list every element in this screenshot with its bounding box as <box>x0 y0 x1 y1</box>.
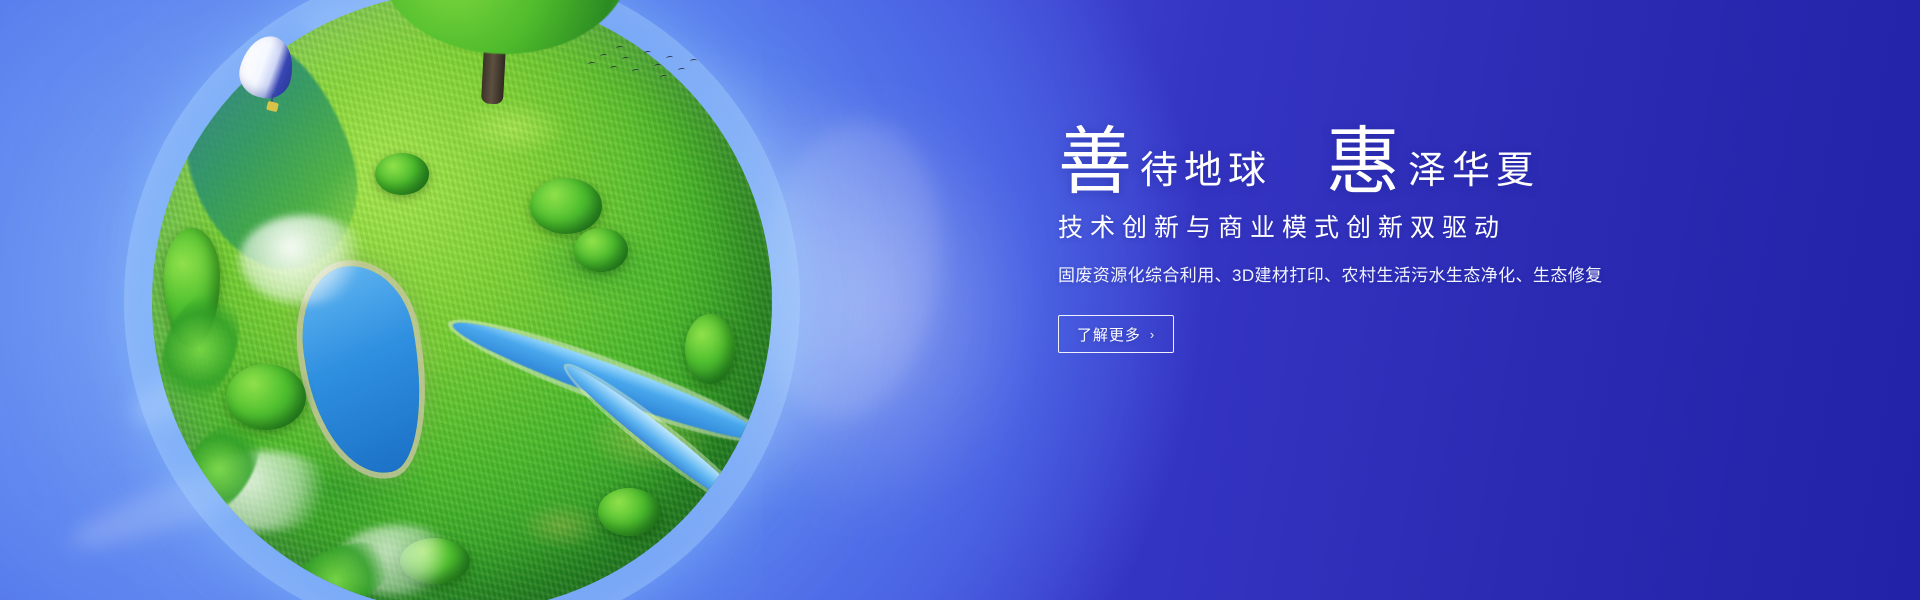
globe-mist-1 <box>239 215 369 305</box>
globe-bush-6 <box>598 488 660 536</box>
headline-daidiqiu: 待地球 <box>1140 152 1272 190</box>
balloon-basket <box>266 101 279 112</box>
headline: 善 待地球 惠 泽华夏 <box>1058 128 1778 199</box>
hero-content: 善 待地球 惠 泽华夏 技术创新与商业模式创新双驱动 固废资源化综合利用、3D建… <box>1058 128 1778 353</box>
hero-subtitle: 技术创新与商业模式创新双驱动 <box>1058 213 1778 243</box>
cloud-wisp-3 <box>740 109 960 431</box>
headline-char-shan: 善 <box>1058 128 1132 199</box>
hot-air-balloon-icon <box>241 36 295 124</box>
balloon-envelope <box>234 31 299 104</box>
headline-zehuaxia: 泽华夏 <box>1408 152 1540 190</box>
learn-more-label: 了解更多 <box>1077 324 1141 345</box>
hero-description: 固废资源化综合利用、3D建材打印、农村生活污水生态净化、生态修复 <box>1058 265 1778 287</box>
learn-more-button[interactable]: 了解更多 › <box>1058 315 1174 353</box>
globe-bush-3 <box>574 228 628 272</box>
headline-char-hui: 惠 <box>1326 128 1400 199</box>
chevron-right-icon: › <box>1150 327 1155 342</box>
hero-banner: 善 待地球 惠 泽华夏 技术创新与商业模式创新双驱动 固废资源化综合利用、3D建… <box>0 0 1920 600</box>
globe-bush-2 <box>530 178 602 234</box>
